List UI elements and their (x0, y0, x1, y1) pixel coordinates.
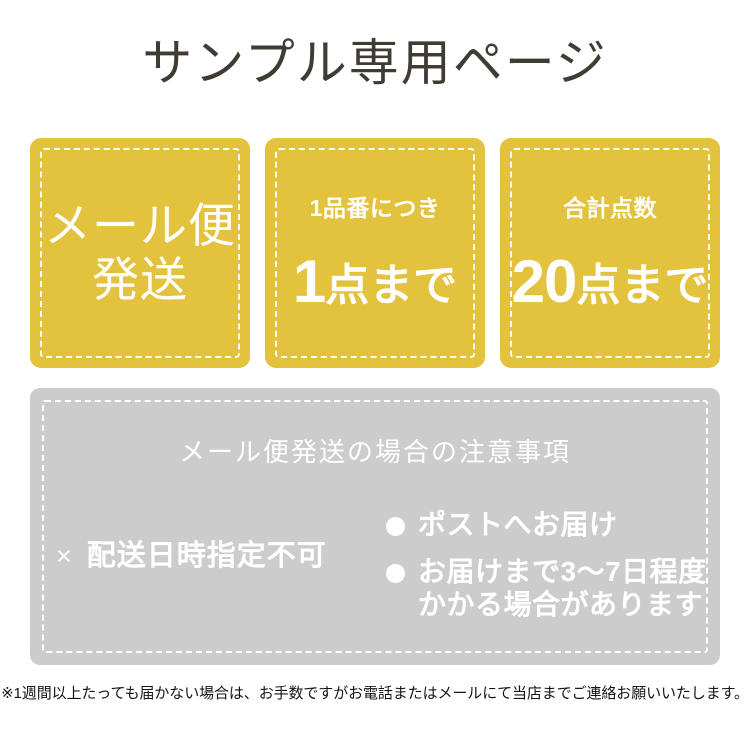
cross-icon: × (56, 543, 73, 570)
info-card-content: メール便 発送 (30, 199, 250, 307)
notice-item-no-date-designation-label: 配送日時指定不可 (87, 538, 327, 574)
info-card-content: 1品番につき 1点まで (265, 194, 485, 312)
bullet-dot-icon (386, 517, 405, 536)
info-card-per-item-limit: 1品番につき 1点まで (265, 138, 485, 368)
per-item-limit-unit: 点まで (325, 261, 457, 310)
notice-bullet-item: お届けまで3〜7日程度 かかる場合があります (386, 555, 706, 621)
total-limit-unit: 点まで (576, 261, 708, 310)
notice-bullet-line: ポストへお届け (418, 508, 618, 541)
info-cards-row: メール便 発送 1品番につき 1点まで 合計点数 20点まで (30, 138, 720, 368)
shipping-method-line-1: メール便 (30, 199, 250, 253)
page-title: サンプル専用ページ (0, 33, 750, 93)
notice-bullet-item: ポストへお届け (386, 508, 706, 541)
notice-bullet-line: お届けまで3〜7日程度 (418, 555, 707, 588)
shipping-method-line-2: 発送 (30, 253, 250, 307)
total-limit-heading: 合計点数 (500, 194, 720, 222)
notice-item-no-date-designation: × 配送日時指定不可 (56, 538, 376, 574)
per-item-limit-heading: 1品番につき (265, 194, 485, 222)
notice-bullet-text: ポストへお届け (418, 508, 618, 541)
bullet-dot-icon (386, 564, 405, 583)
per-item-limit-number: 1 (293, 248, 325, 315)
info-card-content: 合計点数 20点まで (500, 194, 720, 312)
notice-panel-title: メール便発送の場合の注意事項 (0, 436, 750, 468)
info-card-shipping-method: メール便 発送 (30, 138, 250, 368)
info-card-total-limit: 合計点数 20点まで (500, 138, 720, 368)
per-item-limit-value: 1点まで (265, 256, 485, 312)
footer-note: ※1週間以上たっても届かない場合は、お手数ですがお電話またはメールにて当店までご… (0, 683, 750, 705)
notice-bullet-text: お届けまで3〜7日程度 かかる場合があります (418, 555, 707, 621)
total-limit-value: 20点まで (500, 256, 720, 312)
notice-bullet-list: ポストへお届け お届けまで3〜7日程度 かかる場合があります (386, 508, 706, 621)
total-limit-number: 20 (512, 248, 577, 315)
notice-bullet-line: かかる場合があります (418, 588, 707, 621)
